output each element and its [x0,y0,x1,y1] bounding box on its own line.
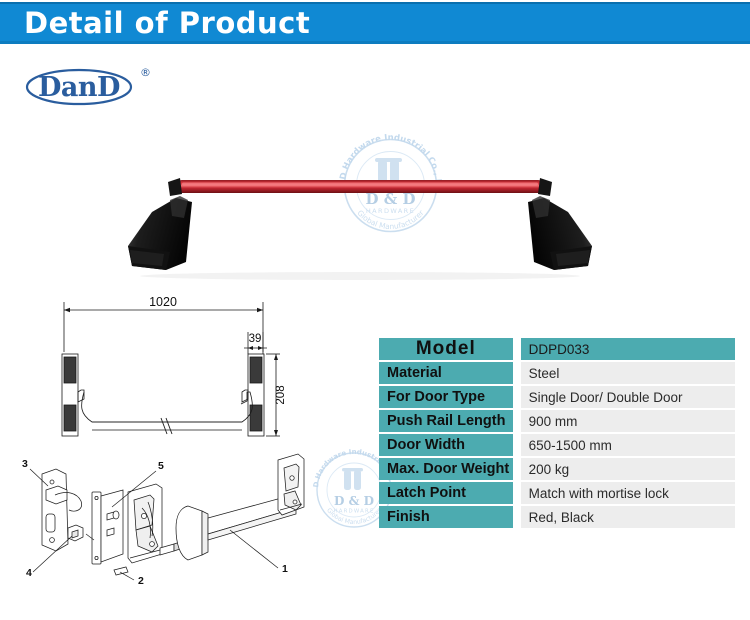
spec-value-material: Steel [521,362,735,384]
svg-text:D & D: D & D [334,494,374,508]
svg-text:HARDWARE: HARDWARE [333,509,374,515]
spec-label-door-width: Door Width [379,434,513,456]
section-header-banner: Detail of Product [0,2,750,44]
column-gap [513,434,521,456]
svg-text:®: ® [140,66,151,79]
spec-label-material: Material [379,362,513,384]
table-row: Max. Door Weight 200 kg [379,458,735,480]
column-gap [513,362,521,384]
table-row-model: Model DDPD033 [379,338,735,360]
column-gap [513,482,521,504]
callout-3: 3 [22,458,28,470]
spec-label-finish: Finish [379,506,513,528]
technical-drawing-top-view: 1020 39 208 [30,288,320,468]
column-gap [513,458,521,480]
callout-2: 2 [138,575,144,587]
table-row: Finish Red, Black [379,506,735,528]
brand-logo: DanD ® [24,62,164,108]
column-gap [513,338,521,360]
spec-label-push-rail-length: Push Rail Length [379,410,513,432]
exploded-parts-diagram: 3 4 2 5 1 [8,452,338,592]
svg-text:DanD: DanD [38,72,120,103]
callout-5: 5 [158,460,164,472]
column-gap [513,410,521,432]
column-gap [513,386,521,408]
callout-4: 4 [26,567,32,579]
spec-value-max-door-weight: 200 kg [521,458,735,480]
dimension-label-208: 208 [275,385,287,404]
spec-value-push-rail-length: 900 mm [521,410,735,432]
spec-label-max-door-weight: Max. Door Weight [379,458,513,480]
callout-1: 1 [282,563,288,575]
table-row: Material Steel [379,362,735,384]
spec-value-finish: Red, Black [521,506,735,528]
product-detail-page: Detail of Product DanD ® D&D Hardware In… [0,0,750,620]
spec-label-for-door-type: For Door Type [379,386,513,408]
specification-table: Model DDPD033 Material Steel For Door Ty… [379,336,735,530]
spec-label-latch-point: Latch Point [379,482,513,504]
spec-value-latch-point: Match with mortise lock [521,482,735,504]
spec-value-for-door-type: Single Door/ Double Door [521,386,735,408]
table-row: Push Rail Length 900 mm [379,410,735,432]
page-title: Detail of Product [24,6,310,40]
dimension-label-39: 39 [249,333,262,345]
spec-value-model: DDPD033 [521,338,735,360]
spec-value-door-width: 650-1500 mm [521,434,735,456]
table-row: For Door Type Single Door/ Double Door [379,386,735,408]
spec-label-model: Model [379,338,513,360]
product-photo [100,150,620,290]
dimension-label-1020: 1020 [149,295,177,309]
table-row: Latch Point Match with mortise lock [379,482,735,504]
table-row: Door Width 650-1500 mm [379,434,735,456]
column-gap [513,506,521,528]
